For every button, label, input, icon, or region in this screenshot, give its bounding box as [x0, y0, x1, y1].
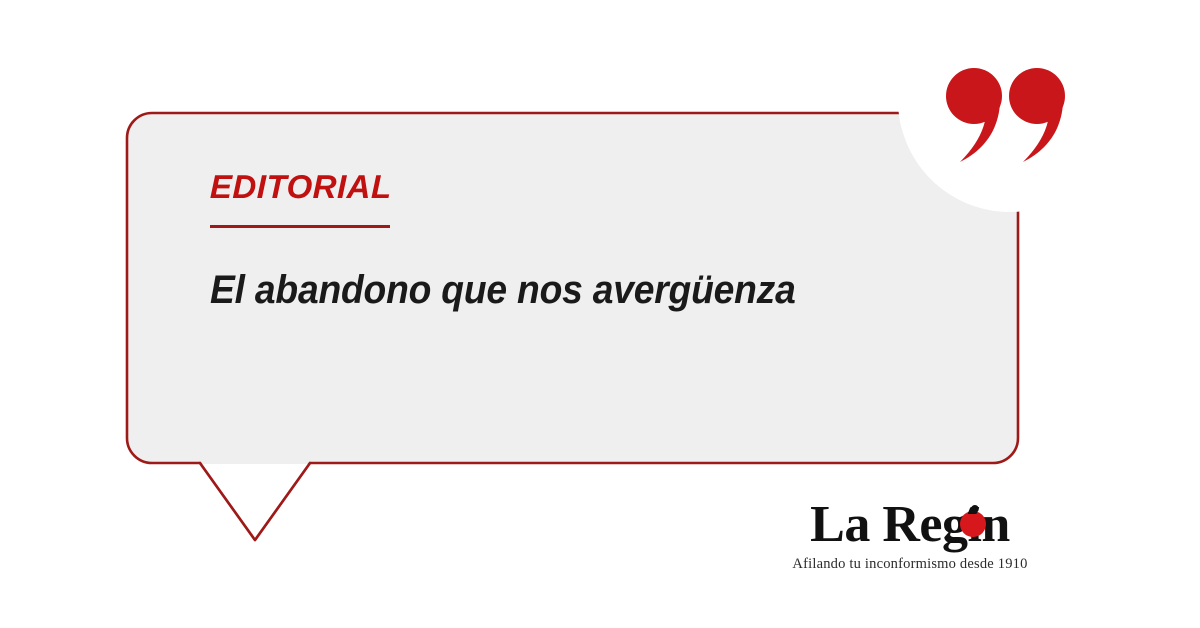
speech-bubble-tail-fill — [202, 464, 308, 538]
logo-name-part-one: La Regi — [810, 497, 981, 553]
page-title: El abandono que nos avergüenza — [210, 268, 861, 312]
editorial-card-canvas: EDITORIAL El abandono que nos avergüenza… — [0, 0, 1200, 628]
editorial-text-block: EDITORIAL El abandono que nos avergüenza — [210, 170, 910, 312]
closing-double-quote-icon — [944, 62, 1068, 166]
quote-mark-badge — [944, 62, 1068, 166]
kicker-divider — [210, 225, 390, 228]
logo-tagline: Afilando tu inconformismo desde 1910 — [775, 556, 1045, 573]
logo-red-dot-icon — [960, 511, 986, 537]
masthead: La Regin Afilando tu inconformismo desde… — [775, 497, 1045, 573]
logo-wordmark: La Regin — [775, 497, 1045, 553]
kicker-label: EDITORIAL — [210, 170, 911, 203]
